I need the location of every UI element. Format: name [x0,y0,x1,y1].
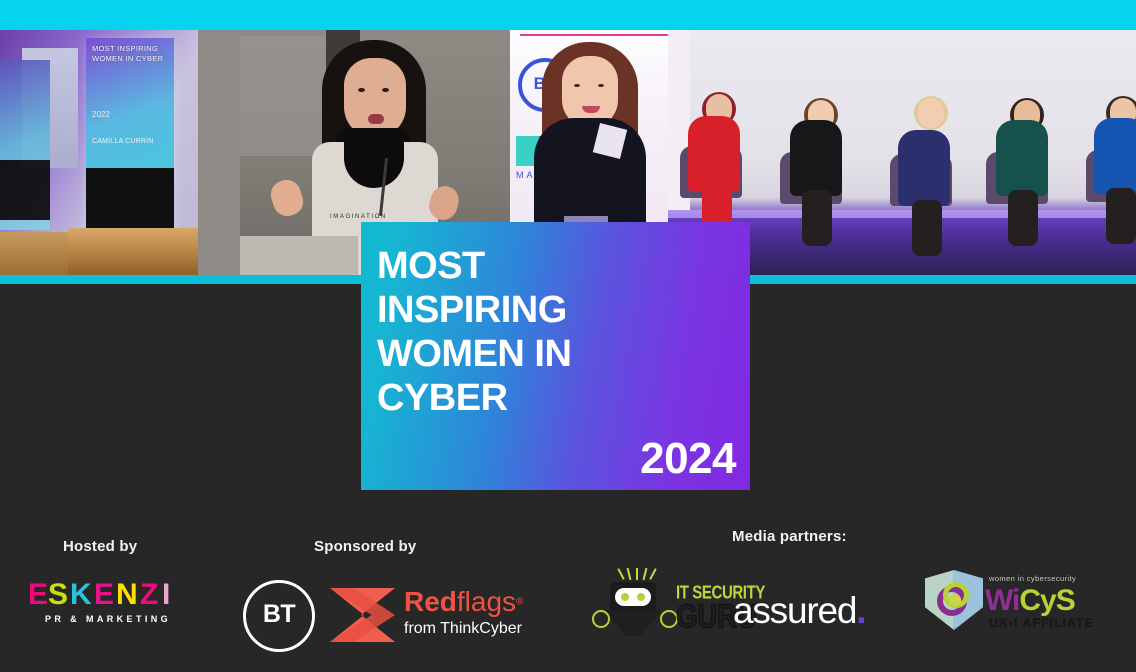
assured-wordmark: assured [733,590,856,631]
panellist-head [918,98,944,128]
guru-eye-left-icon [621,593,629,601]
panellist-legs [802,190,832,246]
eskenzi-letter-n: N [116,578,140,612]
secondary-trophy [0,60,50,230]
promo-poster: MOST INSPIRING WOMEN IN CYBER 2022 CAMIL… [0,0,1136,672]
stage-wall [198,30,240,276]
guru-ray-icon [627,568,632,580]
speaker-eye-left [358,88,365,92]
trophy-winner: CAMILLA CURRIN [92,138,154,145]
guru-ray-icon [617,568,624,580]
redflags-red-text: Red [404,586,457,617]
wicys-logo[interactable]: women in cybersecurity WiCyS UK•I AFFILI… [925,568,1055,634]
eskenzi-letter-k: K [70,578,94,612]
speaker-hand-left [267,176,307,220]
attendee-eye-right [598,84,604,87]
panellist-body [898,130,950,206]
wicys-wi: Wi [985,584,1019,617]
secondary-trophy-plate [0,160,50,220]
banner-accent-line [520,34,668,36]
wicys-lock-dot-icon [949,594,961,606]
eskenzi-letter-e2: E [94,578,116,612]
eskenzi-logo[interactable]: E S K E N Z I PR & MARKETING [28,578,188,630]
award-trophy: MOST INSPIRING WOMEN IN CYBER 2022 CAMIL… [86,38,174,238]
wicys-tagline: women in cybersecurity [989,574,1076,583]
redflags-wordmark: Redflags® [404,586,523,618]
panellist-legs [912,200,942,256]
trophy-title: MOST INSPIRING WOMEN IN CYBER [92,44,170,63]
panellist-body [996,120,1048,196]
panellist-legs [1008,190,1038,246]
redflags-subtitle: from ThinkCyber [404,620,522,638]
top-accent-bar [0,0,1136,30]
speaker-eye-right [382,88,389,92]
eskenzi-letter-e1: E [28,578,48,612]
panellist-body [688,116,740,192]
trophy-sponsor-plate: beazley BT KnowBe4 KPMG [86,168,174,228]
eskenzi-letter-i: I [162,578,176,612]
wicys-wordmark: WiCyS [985,584,1075,618]
redflags-flags-text: flags [457,586,516,617]
wicys-affiliate: UK•I AFFILIATE [989,616,1094,630]
assured-logo[interactable]: assured. [733,590,867,632]
attendee-eye-left [574,84,580,87]
bt-logo[interactable]: BT [243,580,315,652]
page-title: MOST INSPIRING WOMEN IN CYBER [377,244,571,420]
guru-ray-icon [643,568,648,580]
trophy-year: 2022 [92,110,110,119]
wicys-s: S [1056,584,1075,617]
speaker-face [344,58,406,138]
sponsored-by-label: Sponsored by [314,538,416,555]
eskenzi-tagline: PR & MARKETING [28,614,188,624]
guru-arm-left-icon [592,610,610,628]
stage-light-strip [668,210,1136,218]
guru-ray-icon [649,568,656,580]
guru-ray-icon [636,568,638,580]
media-partners-label: Media partners: [732,528,847,545]
it-security-guru-logo[interactable]: IT SECURITY GURU [588,566,723,632]
hosted-by-label: Hosted by [63,538,137,555]
panellist-body [790,120,842,196]
wicys-cy: Cy [1019,584,1055,617]
redflags-registered-mark: ® [516,597,523,608]
speaker-mouth [368,114,384,124]
trophy-plinth [68,228,198,276]
banner-ma-text: MA [516,170,536,180]
hero-title-card: MOST INSPIRING WOMEN IN CYBER 2024 [361,222,750,490]
lectern [240,236,358,276]
attendee-smile [582,106,600,113]
award-trophy-photo: MOST INSPIRING WOMEN IN CYBER 2022 CAMIL… [0,30,240,276]
guru-eye-right-icon [637,593,645,601]
panellist-legs [1106,188,1136,244]
event-year: 2024 [640,434,736,484]
assured-dot: . [856,590,866,631]
eskenzi-wordmark: E S K E N Z I [28,578,188,612]
panellist-body [1094,118,1136,194]
eskenzi-letter-z: Z [140,578,162,612]
eskenzi-letter-s: S [48,578,70,612]
